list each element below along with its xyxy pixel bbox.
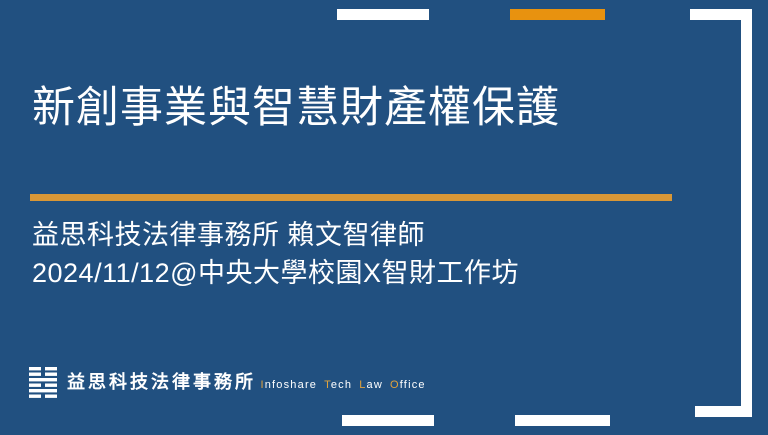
- logo-cap-l: L: [359, 379, 366, 391]
- firm-logo: 益思科技法律事務所 InfoshareTechLawOffice: [28, 366, 433, 400]
- corner-bracket-bottom-segment: [695, 406, 752, 417]
- firm-name-english: InfoshareTechLawOffice: [260, 379, 432, 391]
- subtitle-line-event: 2024/11/12@中央大學校園X智財工作坊: [32, 254, 519, 292]
- logo-rest-law: aw: [367, 379, 383, 391]
- slide-title: 新創事業與智慧財產權保護: [32, 84, 560, 133]
- logo-word-law: Law: [359, 379, 383, 391]
- logo-word-tech: Tech: [324, 379, 352, 391]
- top-decor-bar-white: [337, 9, 429, 20]
- firm-name-chinese: 益思科技法律事務所: [67, 372, 256, 392]
- logo-cap-t: T: [324, 379, 331, 391]
- top-decor-bar-orange: [510, 9, 605, 20]
- logo-rest-tech: ech: [331, 379, 352, 391]
- title-divider-rule: [30, 194, 672, 201]
- logo-word-infoshare: Infoshare: [260, 379, 317, 391]
- logo-rest-office: ffice: [400, 379, 426, 391]
- bottom-decor-bar-right: [515, 415, 610, 426]
- bottom-decor-bar-left: [342, 415, 434, 426]
- logo-word-office: Office: [390, 379, 426, 391]
- corner-bracket-vertical-segment: [741, 9, 752, 417]
- infoshare-logo-mark-icon: [28, 366, 58, 400]
- logo-cap-o: O: [390, 379, 400, 391]
- firm-logo-text: 益思科技法律事務所 InfoshareTechLawOffice: [67, 373, 433, 393]
- presentation-title-slide: 新創事業與智慧財產權保護 益思科技法律事務所 賴文智律師 2024/11/12@…: [0, 0, 768, 435]
- subtitle-line-presenter: 益思科技法律事務所 賴文智律師: [32, 216, 519, 254]
- logo-rest-infoshare: nfoshare: [265, 379, 317, 391]
- slide-subtitle: 益思科技法律事務所 賴文智律師 2024/11/12@中央大學校園X智財工作坊: [32, 216, 519, 293]
